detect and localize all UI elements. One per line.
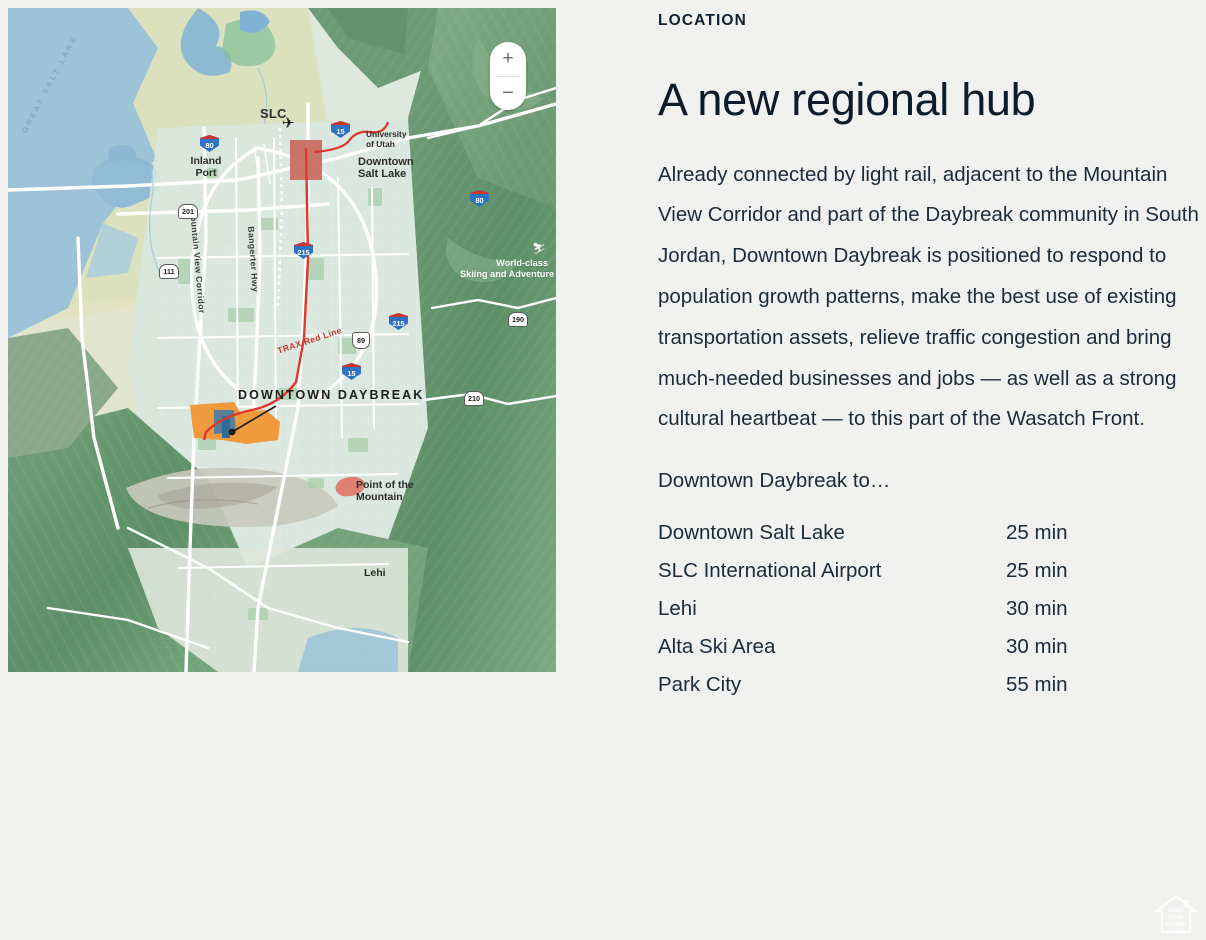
travel-times-table: Downtown Salt Lake 25 min SLC Internatio… xyxy=(658,521,1200,711)
map-zoom-control[interactable]: + − xyxy=(490,42,526,110)
duration-cell: 55 min xyxy=(1000,673,1200,711)
map-canvas[interactable] xyxy=(8,8,556,672)
destination-cell: SLC International Airport xyxy=(658,559,1000,597)
zoom-out-button[interactable]: − xyxy=(490,77,526,111)
location-content: LOCATION A new regional hub Already conn… xyxy=(658,0,1206,940)
section-eyebrow: LOCATION xyxy=(658,12,1200,30)
zoom-in-button[interactable]: + xyxy=(490,42,526,76)
watermark-line-3: Estate xyxy=(1165,921,1186,928)
watermark-line-2: Real xyxy=(1169,914,1184,921)
destination-cell: Park City xyxy=(658,673,1000,711)
table-row: Downtown Salt Lake 25 min xyxy=(658,521,1200,559)
destination-cell: Alta Ski Area xyxy=(658,635,1000,673)
travel-times-body: Downtown Salt Lake 25 min SLC Internatio… xyxy=(658,521,1200,711)
duration-cell: 25 min xyxy=(1000,559,1200,597)
table-row: Park City 55 min xyxy=(658,673,1200,711)
utah-real-estate-watermark-icon: Utah Real Estate .com xyxy=(1154,892,1198,936)
page-title: A new regional hub xyxy=(658,76,1200,125)
table-row: Lehi 30 min xyxy=(658,597,1200,635)
location-map[interactable]: GREAT SALT LAKE Inland Port SLC ✈ Downto… xyxy=(8,8,556,672)
section-paragraph: Already connected by light rail, adjacen… xyxy=(658,155,1200,440)
airplane-icon: ✈ xyxy=(282,116,295,131)
skier-icon: ⛷ xyxy=(532,244,546,255)
map-column: GREAT SALT LAKE Inland Port SLC ✈ Downto… xyxy=(0,0,658,940)
travel-times-intro: Downtown Daybreak to… xyxy=(658,469,1200,493)
map-terrain-graphic xyxy=(8,8,556,672)
duration-cell: 30 min xyxy=(1000,635,1200,673)
duration-cell: 25 min xyxy=(1000,521,1200,559)
duration-cell: 30 min xyxy=(1000,597,1200,635)
location-section: GREAT SALT LAKE Inland Port SLC ✈ Downto… xyxy=(0,0,1206,940)
destination-cell: Lehi xyxy=(658,597,1000,635)
table-row: SLC International Airport 25 min xyxy=(658,559,1200,597)
watermark-line-1: Utah xyxy=(1168,907,1184,914)
table-row: Alta Ski Area 30 min xyxy=(658,635,1200,673)
watermark-line-4: .com xyxy=(1169,928,1183,934)
destination-cell: Downtown Salt Lake xyxy=(658,521,1000,559)
